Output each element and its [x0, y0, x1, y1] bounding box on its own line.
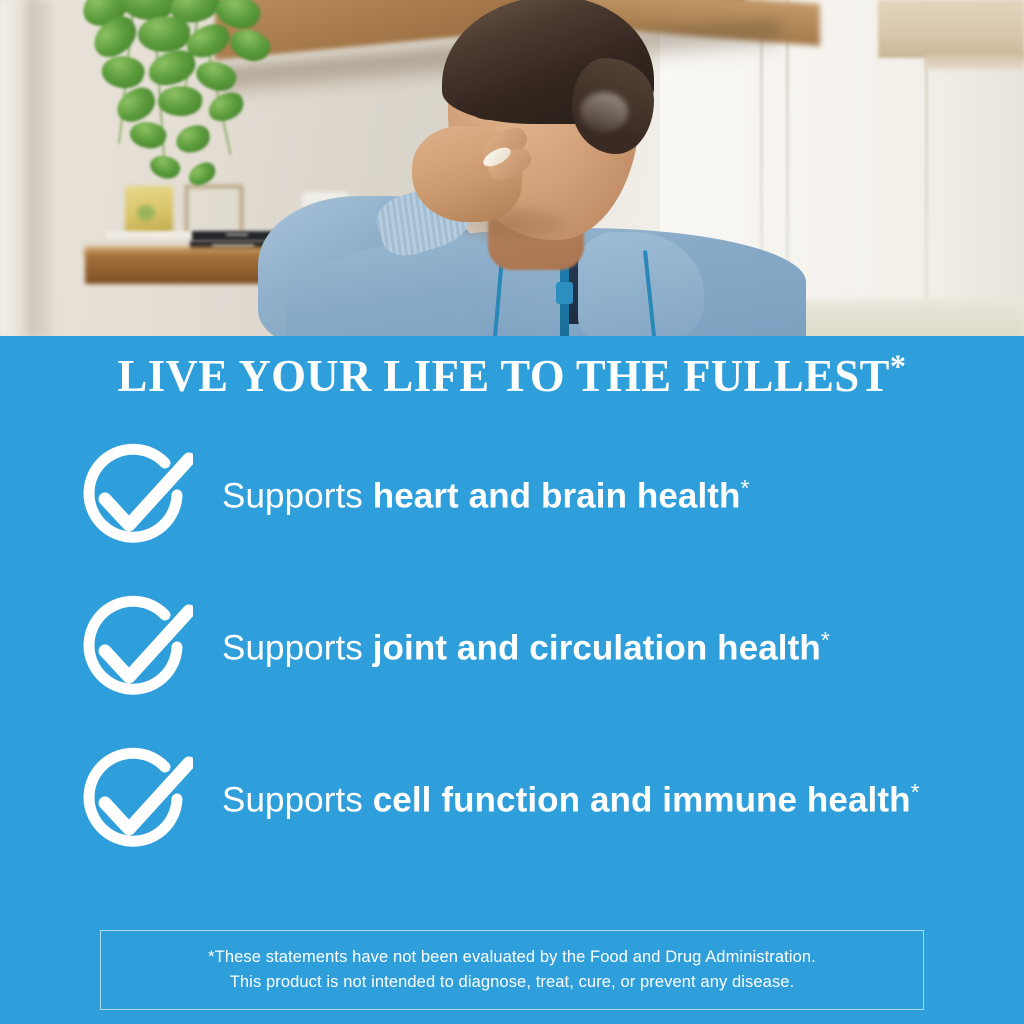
benefits-list: Supports heart and brain health* Support… [0, 420, 1024, 876]
benefit-emphasis: joint and circulation health [373, 629, 821, 668]
benefit-emphasis: heart and brain health [373, 477, 741, 516]
list-item-label: Supports joint and circulation health* [222, 628, 830, 668]
person-figure [260, 0, 820, 337]
hero-photo [0, 0, 1024, 337]
benefit-emphasis: cell function and immune health [373, 781, 911, 820]
disclaimer-line-2: This product is not intended to diagnose… [230, 973, 795, 991]
hanging-plant [30, 0, 290, 216]
disclaimer-line-1: *These statements have not been evaluate… [208, 948, 816, 966]
book-spine-text [226, 233, 248, 236]
marketing-banner: LIVE YOUR LIFE TO THE FULLEST* Supports … [0, 0, 1024, 1024]
list-item: Supports cell function and immune health… [0, 724, 1024, 876]
fda-disclaimer-box: *These statements have not been evaluate… [100, 930, 924, 1010]
list-item: Supports heart and brain health* [0, 420, 1024, 572]
benefits-panel: LIVE YOUR LIFE TO THE FULLEST* Supports … [0, 336, 1024, 1024]
list-item: Supports joint and circulation health* [0, 572, 1024, 724]
greying-temple [580, 92, 628, 132]
headline-asterisk: * [890, 348, 907, 385]
cabinet-wood-trim [878, 0, 1024, 58]
benefit-prefix: Supports [222, 629, 373, 668]
disclaimer-text: *These statements have not been evaluate… [208, 945, 816, 995]
benefit-asterisk: * [821, 627, 830, 653]
page-title: LIVE YOUR LIFE TO THE FULLEST* [15, 348, 1008, 402]
headline-text: LIVE YOUR LIFE TO THE FULLEST [117, 350, 889, 401]
list-item-label: Supports heart and brain health* [222, 476, 750, 516]
check-circle-icon [73, 741, 193, 859]
check-circle-icon [73, 589, 193, 707]
cabinet-wood-trim [925, 52, 1024, 70]
benefit-prefix: Supports [222, 781, 373, 820]
zipper-pull [556, 282, 573, 304]
benefit-asterisk: * [741, 475, 750, 501]
benefit-asterisk: * [911, 779, 920, 805]
benefit-prefix: Supports [222, 477, 373, 516]
list-item-label: Supports cell function and immune health… [222, 780, 920, 820]
check-circle-icon [73, 437, 193, 555]
